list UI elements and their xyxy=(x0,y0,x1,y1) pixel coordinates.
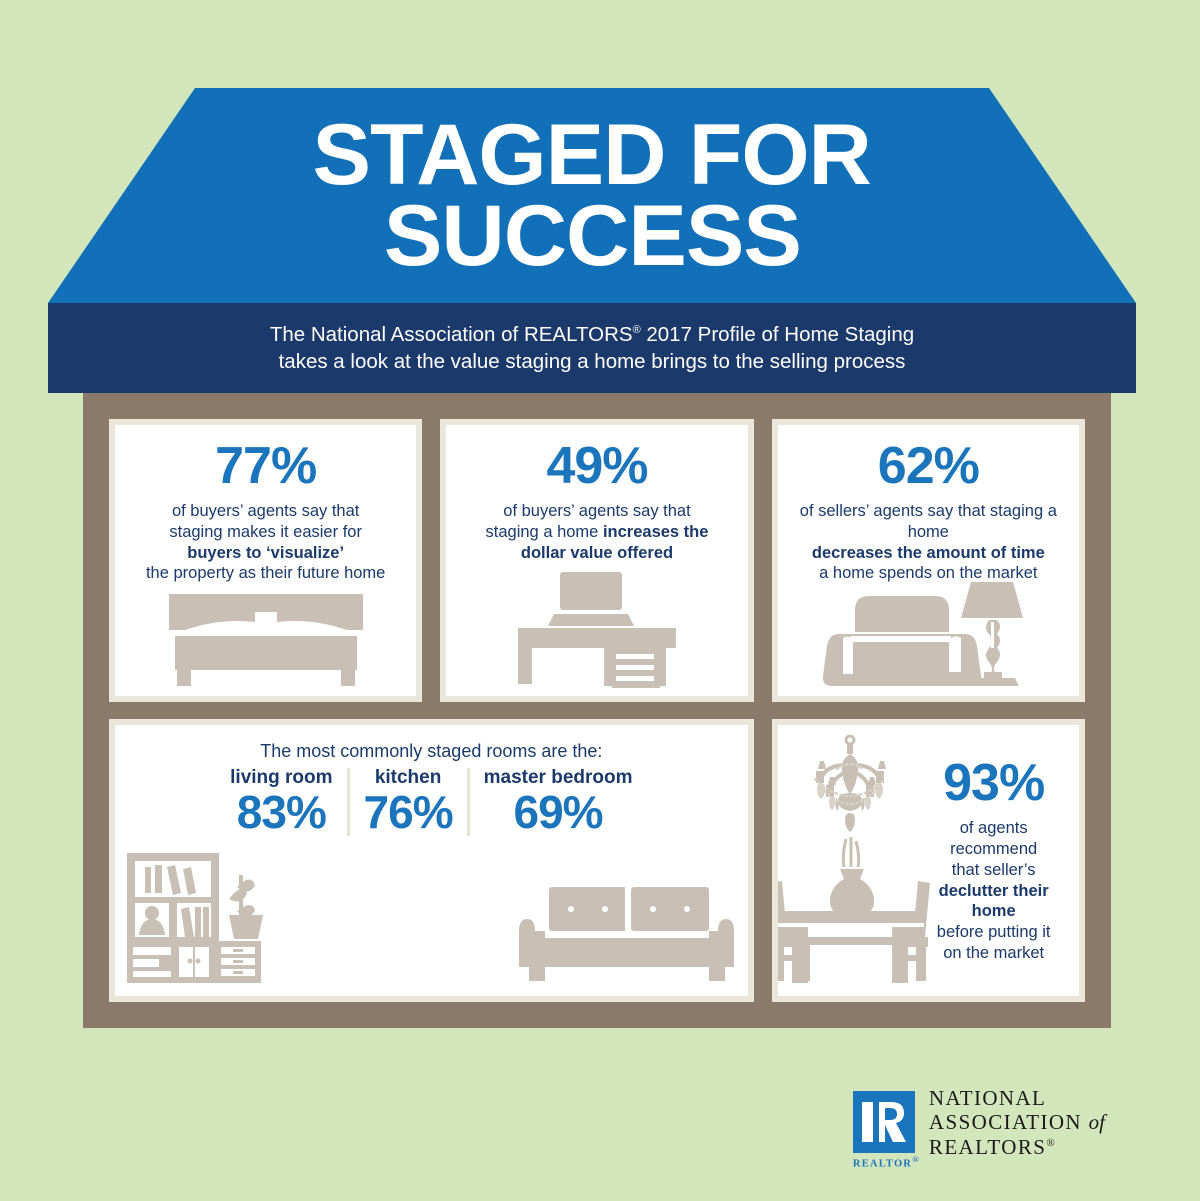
stat-copy: of sellers’ agents say that staging a ho… xyxy=(778,501,1079,584)
stat-percent: 49% xyxy=(446,440,747,492)
nar-line-1: NATIONAL xyxy=(929,1086,1105,1110)
chandelier-icon xyxy=(795,735,905,846)
rooms-heading: The most commonly staged rooms are the: xyxy=(115,741,748,762)
nar-line-3-sup: ® xyxy=(1046,1137,1056,1149)
declutter-copy-line: before putting it xyxy=(937,923,1051,941)
realtor-r-mark-icon: REALTOR® xyxy=(853,1091,915,1153)
room-living-room: living room 83% xyxy=(216,768,346,836)
subtitle-band: The National Association of REALTORS® 20… xyxy=(48,303,1136,393)
cards-grid: 77% of buyers’ agents say that staging m… xyxy=(83,393,1111,1028)
nar-line-3-text: REALTORS xyxy=(929,1135,1046,1159)
nar-line-2-of: of xyxy=(1089,1110,1105,1134)
stat-copy-line-bold: decreases the amount of time xyxy=(812,544,1045,562)
stat-copy-line: of sellers’ agents say that staging a ho… xyxy=(800,502,1057,541)
declutter-icons xyxy=(778,725,923,996)
room-percent: 69% xyxy=(484,789,633,836)
stat-card-visualize: 77% of buyers’ agents say that staging m… xyxy=(109,419,422,702)
declutter-copy-line-bold: declutter their home xyxy=(939,882,1049,921)
declutter-copy-line: that seller’s xyxy=(952,861,1036,879)
rooms-row: living room 83% kitchen 76% master bedro… xyxy=(115,768,748,836)
stat-copy-line: of buyers’ agents say that xyxy=(172,502,359,520)
bookshelf-icon xyxy=(125,853,275,990)
stat-copy: of buyers’ agents say that staging makes… xyxy=(115,501,416,584)
room-percent: 83% xyxy=(230,789,332,836)
stat-copy-line-bold: dollar value offered xyxy=(521,544,673,562)
stat-percent: 77% xyxy=(115,440,416,492)
rooms-icons xyxy=(115,840,748,990)
stat-copy-line: the property as their future home xyxy=(146,564,385,582)
house-body: 77% of buyers’ agents say that staging m… xyxy=(83,393,1111,1028)
stat-copy-line-bold: buyers to ‘visualize’ xyxy=(187,544,344,562)
declutter-card: 93% of agents recommend that seller’s de… xyxy=(772,719,1085,1002)
subtitle-line-1: The National Association of REALTORS® 20… xyxy=(270,321,914,348)
declutter-copy: of agents recommend that seller’s declut… xyxy=(922,818,1065,963)
stat-copy-line: staging makes it easier for xyxy=(169,523,362,541)
realtor-word-text: REALTOR xyxy=(853,1158,912,1169)
stat-card-dollar-value: 49% of buyers’ agents say that staging a… xyxy=(440,419,753,702)
armchair-lamp-icon xyxy=(778,576,1079,688)
nar-line-2: ASSOCIATION of xyxy=(929,1110,1105,1134)
stat-card-time-on-market: 62% of sellers’ agents say that staging … xyxy=(772,419,1085,702)
bed-icon xyxy=(115,592,416,688)
rooms-card: The most commonly staged rooms are the: … xyxy=(109,719,754,1002)
nar-line-3: REALTORS® xyxy=(929,1135,1105,1159)
realtor-wordmark: REALTOR® xyxy=(853,1154,915,1170)
stat-percent: 62% xyxy=(778,440,1079,492)
stat-copy-line: of buyers’ agents say that xyxy=(503,502,690,520)
infographic-root: STAGED FOR SUCCESS The National Associat… xyxy=(0,0,1200,1201)
nar-line-2-a: ASSOCIATION xyxy=(929,1110,1089,1134)
room-percent: 76% xyxy=(364,789,453,836)
roof-shape: STAGED FOR SUCCESS xyxy=(48,88,1136,303)
subtitle-line-1-pre: The National Association of REALTORS xyxy=(270,323,633,346)
registered-mark: ® xyxy=(633,324,641,336)
stat-copy: of buyers’ agents say that staging a hom… xyxy=(446,501,747,563)
sofa-icon xyxy=(519,885,734,990)
subtitle-line-1-post: 2017 Profile of Home Staging xyxy=(641,323,915,346)
declutter-copy-line: of agents recommend xyxy=(950,819,1037,858)
nar-wordmark: NATIONAL ASSOCIATION of REALTORS® xyxy=(929,1086,1105,1159)
desk-icon xyxy=(446,570,747,688)
declutter-percent: 93% xyxy=(922,757,1065,809)
subtitle-line-2: takes a look at the value staging a home… xyxy=(279,348,906,375)
declutter-copy-line: on the market xyxy=(943,944,1044,962)
nar-logo: REALTOR® NATIONAL ASSOCIATION of REALTOR… xyxy=(853,1086,1105,1159)
dining-table-icon xyxy=(778,837,940,990)
room-kitchen: kitchen 76% xyxy=(347,768,467,836)
room-master-bedroom: master bedroom 69% xyxy=(467,768,647,836)
stat-copy-line-bold: increases the xyxy=(603,523,708,541)
declutter-text: 93% of agents recommend that seller’s de… xyxy=(922,757,1079,963)
stat-copy-line: staging a home xyxy=(486,523,603,541)
realtor-word-sup: ® xyxy=(912,1154,920,1164)
